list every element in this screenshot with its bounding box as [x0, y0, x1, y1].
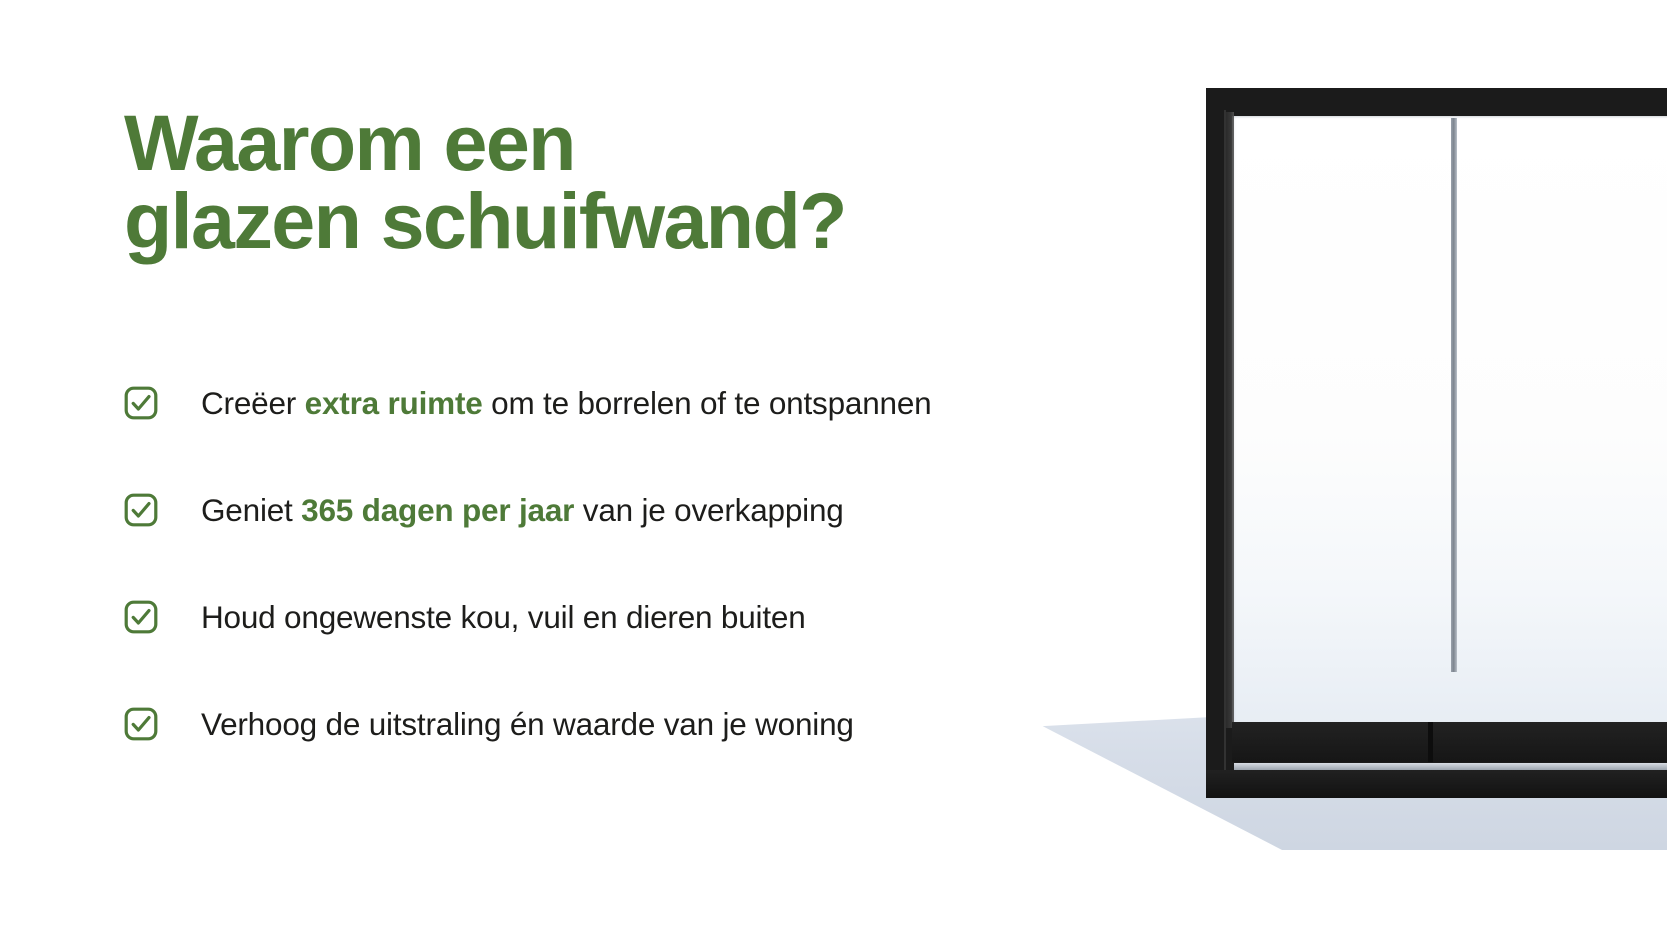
glass-panels	[1232, 116, 1667, 726]
list-item: Houd ongewenste kou, vuil en dieren buit…	[124, 599, 1074, 635]
list-item-text-pre: Verhoog de uitstraling én waarde van je …	[201, 706, 854, 742]
frame-inner-edge	[1226, 112, 1234, 728]
bottom-rail-highlight	[1234, 763, 1667, 770]
glass-mullion	[1451, 118, 1457, 672]
check-square-icon	[124, 386, 158, 420]
product-image	[1020, 0, 1667, 938]
bottom-rail-split	[1428, 722, 1433, 762]
list-item-text-highlight: extra ruimte	[305, 385, 483, 421]
text-column: Waarom een glazen schuifwand? Creëer ext…	[0, 0, 1060, 938]
list-item-text-pre: Geniet	[201, 492, 301, 528]
list-item-label: Verhoog de uitstraling én waarde van je …	[201, 707, 854, 742]
page-title: Waarom een glazen schuifwand?	[124, 104, 1024, 260]
frame-bottom-edge	[1206, 770, 1667, 798]
benefits-checklist: Creëer extra ruimte om te borrelen of te…	[124, 385, 1074, 742]
check-square-icon	[124, 600, 158, 634]
list-item-text-pre: Houd ongewenste kou, vuil en dieren buit…	[201, 599, 806, 635]
check-square-icon	[124, 707, 158, 741]
sliding-door-frame	[1206, 88, 1667, 798]
list-item-label: Creëer extra ruimte om te borrelen of te…	[201, 386, 931, 421]
list-item-label: Houd ongewenste kou, vuil en dieren buit…	[201, 600, 806, 635]
list-item: Verhoog de uitstraling én waarde van je …	[124, 706, 1074, 742]
list-item: Creëer extra ruimte om te borrelen of te…	[124, 385, 1074, 421]
list-item-text-pre: Creëer	[201, 385, 305, 421]
frame-highlight-edge	[1224, 110, 1226, 774]
list-item-label: Geniet 365 dagen per jaar van je overkap…	[201, 493, 844, 528]
check-square-icon	[124, 493, 158, 527]
slide-canvas: Waarom een glazen schuifwand? Creëer ext…	[0, 0, 1667, 938]
list-item: Geniet 365 dagen per jaar van je overkap…	[124, 492, 1074, 528]
bottom-rail	[1232, 722, 1667, 762]
list-item-text-post: om te borrelen of te ontspannen	[483, 385, 932, 421]
list-item-text-post: van je overkapping	[574, 492, 843, 528]
list-item-text-highlight: 365 dagen per jaar	[301, 492, 574, 528]
